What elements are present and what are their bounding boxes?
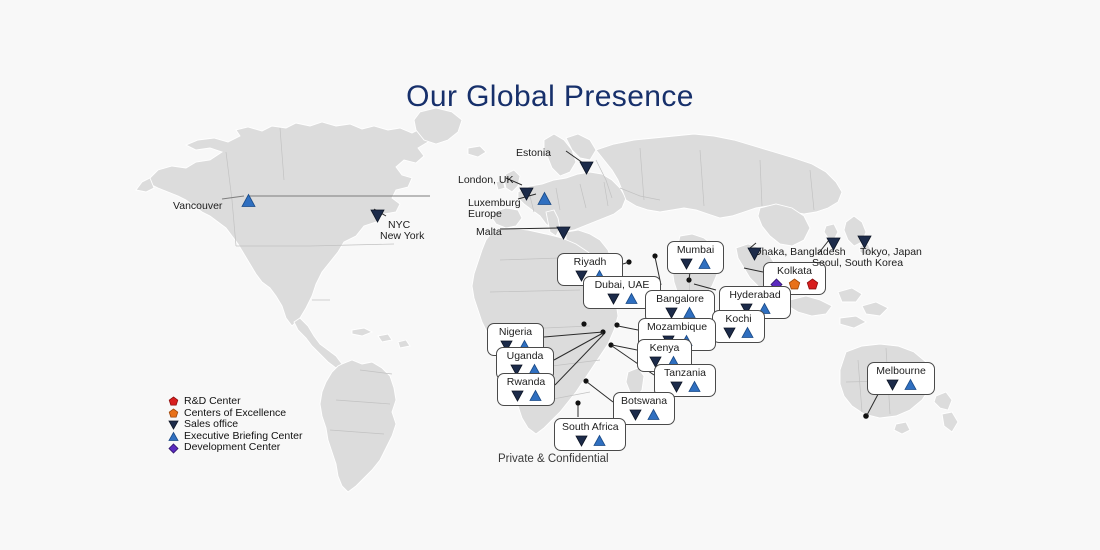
- dhaka-marker[interactable]: [747, 246, 762, 266]
- location-label: Melbourne: [875, 365, 927, 377]
- confidentiality-note: Private & Confidential: [498, 453, 609, 465]
- triangle-down-icon: [629, 408, 642, 421]
- triangle-down-icon: [519, 186, 534, 201]
- triangle-down-icon: [826, 236, 841, 251]
- triangle-down-icon: [168, 419, 179, 430]
- triangle-down-icon: [556, 225, 571, 240]
- location-callout-melbourne[interactable]: Melbourne: [867, 362, 935, 395]
- london-marker[interactable]: [519, 186, 534, 206]
- location-icon-row: [505, 389, 547, 402]
- triangle-down-icon: [575, 434, 588, 447]
- triangle-up-icon: [688, 380, 701, 393]
- location-text-seoul-south-korea: Seoul, South Korea: [812, 257, 903, 270]
- triangle-up-icon: [698, 257, 711, 270]
- location-icon-row: [621, 408, 667, 421]
- slide-canvas: Our Global Presence RiyadhDubai, UAEMumb…: [0, 0, 1100, 550]
- triangle-up-icon: [593, 434, 606, 447]
- location-icon-row: [591, 292, 653, 305]
- triangle-down-icon: [857, 234, 872, 249]
- location-callout-mumbai[interactable]: Mumbai: [667, 241, 724, 274]
- location-text-europe: Europe: [468, 208, 502, 221]
- legend-item-label: R&D Center: [184, 396, 241, 408]
- triangle-down-icon: [370, 208, 385, 223]
- location-icon-row: [875, 378, 927, 391]
- triangle-up-icon: [537, 191, 552, 206]
- location-label: Kolkata: [771, 265, 818, 277]
- triangle-up-icon: [904, 378, 917, 391]
- location-icon-row: [662, 380, 708, 393]
- pentagon-red-icon: [168, 396, 179, 407]
- nyc-marker[interactable]: [370, 208, 385, 228]
- triangle-up-icon: [241, 193, 256, 208]
- location-label: South Africa: [562, 421, 618, 433]
- pentagon-red-icon: [806, 278, 819, 291]
- pentagon-orange-icon: [168, 408, 179, 419]
- location-text-new-york: New York: [380, 230, 424, 243]
- location-label: Bangalore: [653, 293, 707, 305]
- location-label: Kenya: [645, 342, 684, 354]
- location-icon-row: [562, 434, 618, 447]
- legend-item-label: Development Center: [184, 442, 280, 454]
- triangle-up-icon: [168, 431, 179, 442]
- location-text-estonia: Estonia: [516, 147, 551, 160]
- legend-item-r-d-center: R&D Center: [168, 396, 302, 408]
- location-text-vancouver: Vancouver: [173, 200, 222, 213]
- triangle-up-icon: [741, 326, 754, 339]
- location-label: Riyadh: [565, 256, 615, 268]
- seoul-marker[interactable]: [826, 236, 841, 256]
- pentagon-orange-icon: [168, 408, 179, 419]
- estonia-marker[interactable]: [579, 160, 594, 180]
- triangle-up-icon: [529, 389, 542, 402]
- triangle-down-icon: [511, 389, 524, 402]
- location-label: Uganda: [504, 350, 546, 362]
- triangle-up-icon: [625, 292, 638, 305]
- location-icon-row: [720, 326, 757, 339]
- legend-item-development-center: Development Center: [168, 442, 302, 454]
- location-label: Botswana: [621, 395, 667, 407]
- location-text-malta: Malta: [476, 226, 502, 239]
- triangle-down-icon: [670, 380, 683, 393]
- triangle-down-icon: [747, 246, 762, 261]
- triangle-down-icon: [723, 326, 736, 339]
- triangle-down-icon: [680, 257, 693, 270]
- location-label: Rwanda: [505, 376, 547, 388]
- pentagon-red-icon: [168, 396, 179, 407]
- page-title: Our Global Presence: [0, 80, 1100, 114]
- location-label: Nigeria: [495, 326, 536, 338]
- diamond-icon: [168, 443, 179, 454]
- triangle-up-icon: [168, 431, 179, 442]
- vancouver-marker[interactable]: [241, 193, 256, 213]
- location-label: Kochi: [720, 313, 757, 325]
- location-icon-row: [675, 257, 716, 270]
- triangle-down-icon: [579, 160, 594, 175]
- location-label: Mozambique: [646, 321, 708, 333]
- luxemburg-marker[interactable]: [537, 191, 552, 211]
- tokyo-marker[interactable]: [857, 234, 872, 254]
- diamond-icon: [168, 443, 179, 454]
- location-label: Mumbai: [675, 244, 716, 256]
- location-text-london-uk: London, UK: [458, 174, 513, 187]
- location-callout-kochi[interactable]: Kochi: [712, 310, 765, 343]
- location-callout-south-africa[interactable]: South Africa: [554, 418, 626, 451]
- triangle-up-icon: [647, 408, 660, 421]
- legend: R&D CenterCenters of ExcellenceSales off…: [168, 396, 302, 454]
- triangle-down-icon: [168, 419, 179, 430]
- malta-marker[interactable]: [556, 225, 571, 245]
- location-label: Dubai, UAE: [591, 279, 653, 291]
- triangle-down-icon: [607, 292, 620, 305]
- triangle-down-icon: [886, 378, 899, 391]
- location-label: Tanzania: [662, 367, 708, 379]
- location-label: Hyderabad: [727, 289, 783, 301]
- location-callout-rwanda[interactable]: Rwanda: [497, 373, 555, 406]
